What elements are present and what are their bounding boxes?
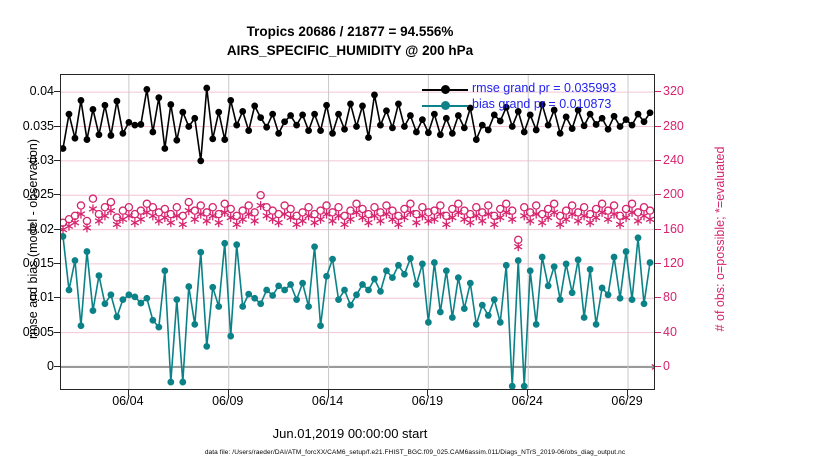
chart-legend: rmse grand pr = 0.035993bias grand pr = … (420, 82, 655, 114)
y-tickmark-right-4 (655, 229, 661, 230)
x-tickmark-1 (228, 390, 229, 396)
y-tickmark-left-4 (54, 229, 60, 230)
y-axis-left-label: rmse and bias (model - observation) (26, 114, 40, 364)
y-tick-right-3: 120 (663, 256, 684, 270)
y-tickmark-right-2 (655, 297, 661, 298)
x-tick-0: 06/04 (112, 394, 143, 408)
x-tickmark-0 (128, 390, 129, 396)
y-tickmark-right-7 (655, 126, 661, 127)
y-tickmark-right-5 (655, 194, 661, 195)
legend-entry-1: bias grand pr = 0.010873 (420, 98, 655, 114)
x-tickmark-3 (427, 390, 428, 396)
y-tickmark-right-8 (655, 91, 661, 92)
x-tick-5: 06/29 (611, 394, 642, 408)
legend-label-0: rmse grand pr = 0.035993 (472, 81, 616, 95)
y-tickmark-right-6 (655, 160, 661, 161)
y-tick-right-2: 80 (663, 290, 677, 304)
y-tickmark-left-6 (54, 160, 60, 161)
y-tickmark-left-2 (54, 297, 60, 298)
legend-marker-icon-0 (441, 85, 450, 94)
plot-area (60, 74, 655, 390)
y-axis-right-label: # of obs: o=possible; *=evaluated (713, 99, 727, 379)
x-tick-3: 06/19 (412, 394, 443, 408)
legend-label-1: bias grand pr = 0.010873 (472, 97, 611, 111)
y-tick-left-8: 0.04 (0, 84, 54, 98)
x-tick-2: 06/14 (312, 394, 343, 408)
x-tick-1: 06/09 (212, 394, 243, 408)
plot-page: Tropics 20686 / 21877 = 94.556% AIRS_SPE… (0, 0, 830, 470)
y-tickmark-right-1 (655, 332, 661, 333)
y-tickmark-right-0 (655, 366, 661, 367)
chart-title-block: Tropics 20686 / 21877 = 94.556% AIRS_SPE… (0, 22, 700, 60)
y-tickmark-left-0 (54, 366, 60, 367)
y-tick-right-0: 0 (663, 359, 670, 373)
y-tickmark-left-5 (54, 194, 60, 195)
y-tick-right-1: 40 (663, 325, 677, 339)
data-series-layer (61, 75, 654, 389)
plot-canvas (61, 75, 654, 389)
y-tick-right-4: 160 (663, 222, 684, 236)
y-tickmark-right-3 (655, 263, 661, 264)
x-tickmark-2 (328, 390, 329, 396)
y-tick-right-5: 200 (663, 187, 684, 201)
chart-title-line-1: Tropics 20686 / 21877 = 94.556% (0, 22, 700, 41)
legend-marker-icon-1 (441, 101, 450, 110)
x-tick-4: 06/24 (512, 394, 543, 408)
y-tickmark-left-3 (54, 263, 60, 264)
y-tick-right-8: 320 (663, 84, 684, 98)
y-tickmark-left-7 (54, 126, 60, 127)
chart-title-line-2: AIRS_SPECIFIC_HUMIDITY @ 200 hPa (0, 41, 700, 60)
data-file-caption: data file: /Users/raeder/DAI/ATM_forcXX/… (0, 449, 830, 456)
x-tickmark-5 (627, 390, 628, 396)
y-tickmark-left-1 (54, 332, 60, 333)
y-tick-right-6: 240 (663, 153, 684, 167)
legend-entry-0: rmse grand pr = 0.035993 (420, 82, 655, 98)
y-tick-right-7: 280 (663, 119, 684, 133)
x-axis-caption: Jun.01,2019 00:00:00 start (0, 426, 700, 441)
y-tickmark-left-8 (54, 91, 60, 92)
x-tickmark-4 (527, 390, 528, 396)
